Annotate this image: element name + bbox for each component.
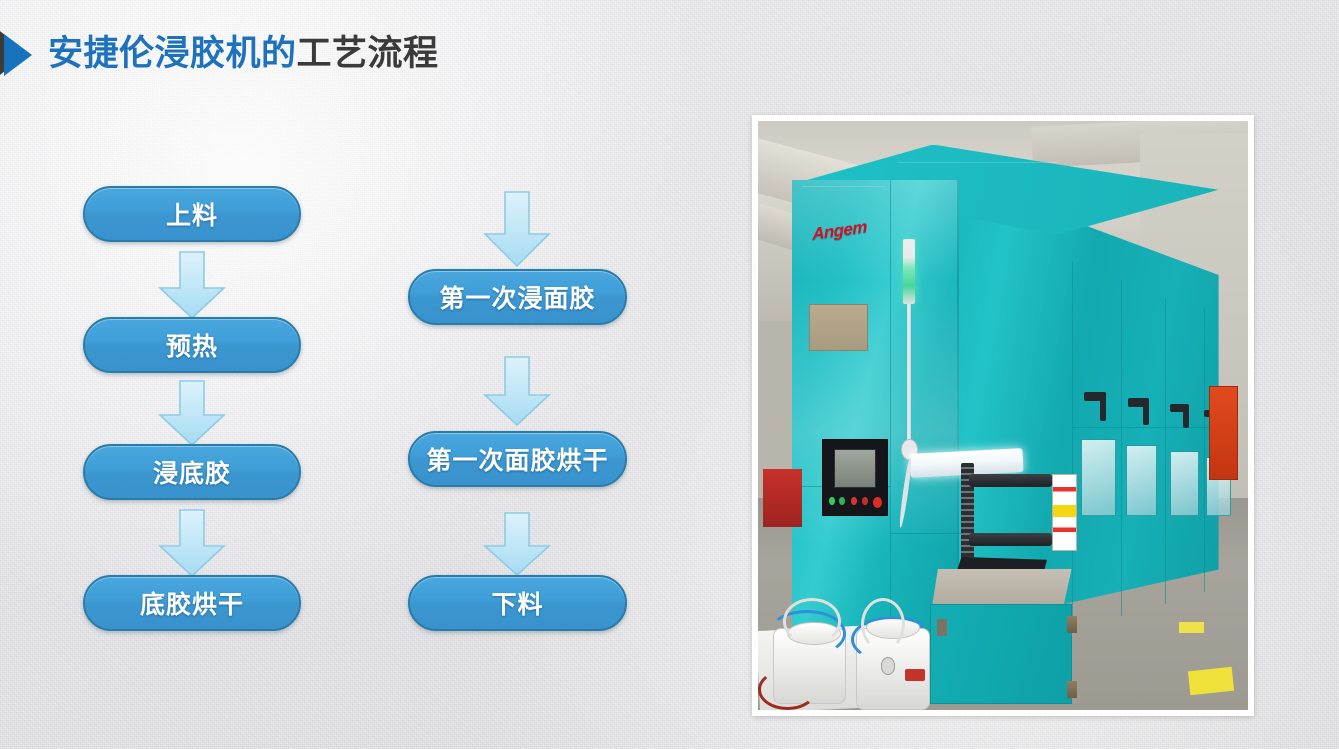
red-cabinet xyxy=(1209,386,1238,480)
hose-support xyxy=(783,598,842,645)
flow-node-dijiaohonggan[interactable]: 底胶烘干 xyxy=(83,575,301,631)
conveyor-rail xyxy=(969,474,1052,487)
flow-node-label: 第一次浸面胶 xyxy=(439,279,595,315)
control-panel-button xyxy=(839,497,845,505)
red-equipment xyxy=(763,469,802,528)
machine-photo-content: Angem xyxy=(758,121,1248,710)
stack-light-icon xyxy=(903,239,916,304)
control-panel-button xyxy=(829,497,835,505)
flow-node-label: 第一次面胶烘干 xyxy=(426,441,608,477)
flow-arrow-down xyxy=(156,508,228,578)
door-handle xyxy=(1183,404,1188,429)
triangle-right-icon-fill xyxy=(4,34,32,76)
flow-node-diyicijinmianjiao[interactable]: 第一次浸面胶 xyxy=(408,269,627,325)
flow-arrow-down xyxy=(481,355,553,427)
machine-photo: Angem xyxy=(752,115,1254,716)
door-latch xyxy=(937,619,947,637)
inspection-window xyxy=(1170,451,1199,516)
panel-highlight xyxy=(802,186,885,187)
triangle-right-icon xyxy=(0,22,46,84)
flow-node-xialiao[interactable]: 下料 xyxy=(408,575,627,631)
pressure-gauge xyxy=(881,657,896,675)
control-panel-button xyxy=(862,497,868,505)
red-hose xyxy=(758,669,817,710)
inspection-window xyxy=(1126,445,1158,516)
page-title-plain: 工艺流程 xyxy=(297,34,439,73)
page-title-accent: 安捷伦浸胶机的 xyxy=(48,34,297,73)
panel-seam xyxy=(1072,262,1073,615)
nameplate xyxy=(809,304,868,351)
flow-node-label: 下料 xyxy=(491,585,543,621)
floor-marking xyxy=(1179,622,1204,634)
flow-node-label: 上料 xyxy=(166,196,218,232)
panel-seam xyxy=(1121,280,1122,616)
flow-arrow-down xyxy=(156,250,228,320)
warning-label xyxy=(1052,474,1077,551)
flow-node-shangliao[interactable]: 上料 xyxy=(83,186,301,242)
flow-node-yure[interactable]: 预热 xyxy=(83,317,301,373)
stack-light-pole xyxy=(907,304,911,451)
valve-handle xyxy=(905,669,925,681)
panel-seam xyxy=(890,180,891,639)
panel-seam xyxy=(1204,309,1205,592)
machine-front-highlight xyxy=(792,180,959,639)
control-panel-screen xyxy=(834,449,876,488)
conveyor-rail xyxy=(969,533,1052,546)
hose-support xyxy=(861,598,905,651)
emergency-stop-button xyxy=(873,497,882,508)
flow-node-label: 底胶烘干 xyxy=(140,585,244,621)
flow-arrow-down xyxy=(481,190,553,268)
flow-node-diyicimianjiaohonggan[interactable]: 第一次面胶烘干 xyxy=(408,431,627,487)
panel-seam xyxy=(1165,298,1166,604)
door-handle xyxy=(1143,398,1149,425)
door-hinge xyxy=(1067,616,1078,634)
page-title: 安捷伦浸胶机的工艺流程 xyxy=(0,22,439,84)
door-handle xyxy=(1100,392,1106,421)
flow-node-label: 浸底胶 xyxy=(153,454,231,490)
flow-arrow-down xyxy=(156,379,228,447)
flow-node-jindijiao[interactable]: 浸底胶 xyxy=(83,444,301,500)
slide-canvas: 安捷伦浸胶机的工艺流程 上料 预热 浸底胶 底胶烘干 xyxy=(0,0,1339,749)
machine-base-door xyxy=(930,604,1072,704)
flow-node-label: 预热 xyxy=(166,327,218,363)
floor-marking xyxy=(1188,667,1234,695)
page-title-text: 安捷伦浸胶机的工艺流程 xyxy=(46,36,439,71)
control-panel-button xyxy=(851,497,857,505)
flow-arrow-down xyxy=(481,511,553,577)
door-hinge xyxy=(1067,681,1078,699)
control-panel xyxy=(822,439,888,516)
panel-highlight xyxy=(898,162,1060,163)
inspection-window xyxy=(1081,439,1115,516)
